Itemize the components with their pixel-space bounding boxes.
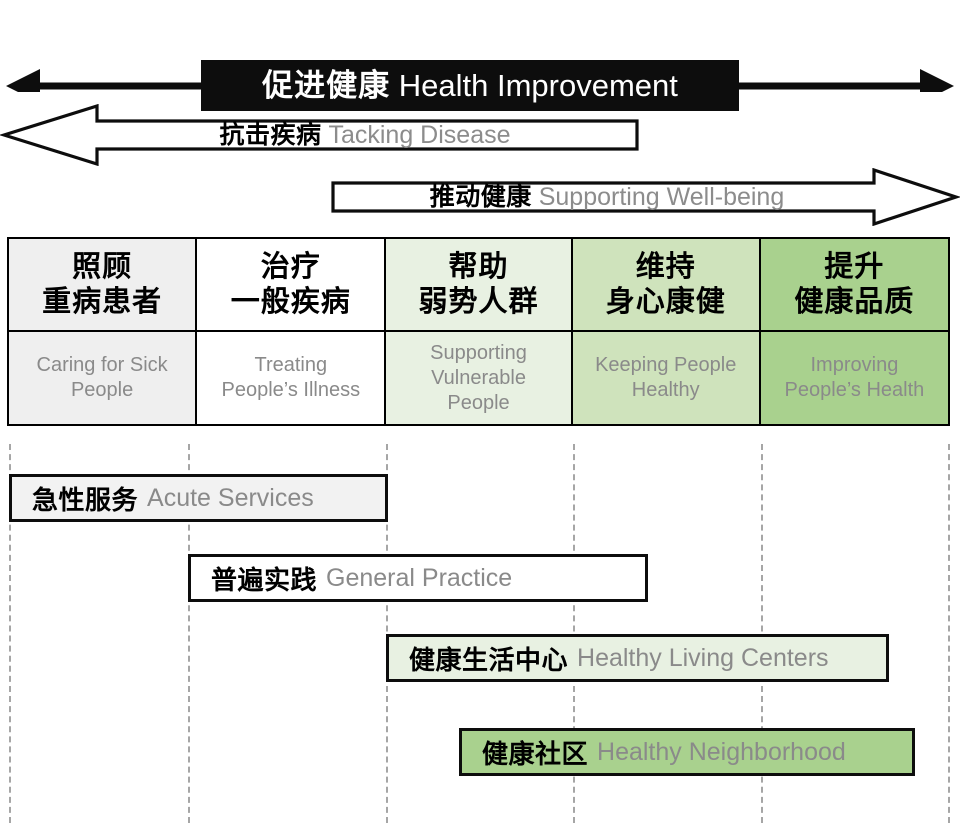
matrix-column-5-cn-cell: 提升健康品质	[761, 239, 948, 332]
matrix-en-line: Healthy	[632, 378, 700, 403]
matrix-column-3-en-cell: SupportingVulnerablePeople	[386, 332, 570, 424]
acute-services-bar: 急性服务Acute Services	[9, 474, 388, 522]
matrix-en-line: People’s Health	[785, 378, 925, 403]
matrix-en-line: Supporting	[430, 341, 527, 366]
healthy-living-centers-bar-cn: 健康生活中心	[409, 640, 568, 677]
matrix-en-line: Keeping People	[595, 353, 736, 378]
matrix-column-1: 照顾重病患者Caring for SickPeople	[9, 239, 197, 424]
general-practice-bar-cn: 普遍实践	[211, 560, 317, 597]
matrix-cn-line: 身心康健	[606, 285, 726, 319]
health-improvement-band: 促进健康 Health Improvement	[0, 30, 960, 92]
matrix-cn-line: 重病患者	[42, 285, 162, 319]
matrix-column-5-en-cell: ImprovingPeople’s Health	[761, 332, 948, 424]
health-improvement-label: 促进健康 Health Improvement	[262, 70, 678, 101]
tackling-disease-label-en: Tacking Disease	[328, 123, 510, 148]
matrix-column-2-en-cell: TreatingPeople’s Illness	[197, 332, 384, 424]
guide-line-6	[948, 444, 950, 823]
supporting-wellbeing-label-cn: 推动健康	[430, 185, 532, 210]
general-practice-bar: 普遍实践General Practice	[188, 554, 648, 602]
matrix-en-line: Caring for Sick	[37, 353, 168, 378]
acute-services-bar-cn: 急性服务	[32, 480, 138, 517]
healthy-neighborhood-bar-en: Healthy Neighborhood	[597, 738, 846, 767]
general-practice-bar-en: General Practice	[326, 564, 512, 593]
tackling-disease-label: 抗击疾病 Tacking Disease	[104, 104, 626, 166]
healthy-neighborhood-bar-cn: 健康社区	[482, 734, 588, 771]
matrix-cn-line: 健康品质	[794, 285, 914, 319]
supporting-wellbeing-label-en: Supporting Well-being	[539, 185, 785, 210]
tackling-disease-arrow: 抗击疾病 Tacking Disease	[0, 104, 640, 166]
matrix-column-4-en-cell: Keeping PeopleHealthy	[573, 332, 759, 424]
matrix-en-line: Vulnerable	[431, 366, 526, 391]
tackling-disease-label-cn: 抗击疾病	[220, 123, 322, 148]
matrix-column-3: 帮助弱势人群SupportingVulnerablePeople	[386, 239, 572, 424]
matrix-column-1-cn-cell: 照顾重病患者	[9, 239, 195, 332]
matrix-cn-line: 治疗	[261, 250, 321, 284]
matrix-en-line: People	[447, 391, 509, 416]
supporting-wellbeing-label: 推动健康 Supporting Well-being	[346, 168, 868, 226]
matrix-en-line: People’s Illness	[222, 378, 361, 403]
matrix-cn-line: 照顾	[72, 250, 132, 284]
healthy-neighborhood-bar: 健康社区Healthy Neighborhood	[459, 728, 915, 776]
matrix-cn-line: 一般疾病	[231, 285, 351, 319]
matrix-cn-line: 提升	[824, 250, 884, 284]
care-spectrum-matrix: 照顾重病患者Caring for SickPeople治疗一般疾病Treatin…	[7, 237, 950, 426]
matrix-column-2: 治疗一般疾病TreatingPeople’s Illness	[197, 239, 386, 424]
matrix-cn-line: 维持	[636, 250, 696, 284]
matrix-column-2-cn-cell: 治疗一般疾病	[197, 239, 384, 332]
matrix-en-line: People	[71, 378, 133, 403]
healthy-living-centers-bar: 健康生活中心Healthy Living Centers	[386, 634, 889, 682]
matrix-column-5: 提升健康品质ImprovingPeople’s Health	[761, 239, 948, 424]
acute-services-bar-en: Acute Services	[147, 484, 314, 513]
matrix-cn-line: 弱势人群	[419, 285, 539, 319]
matrix-column-4: 维持身心康健Keeping PeopleHealthy	[573, 239, 761, 424]
matrix-column-1-en-cell: Caring for SickPeople	[9, 332, 195, 424]
matrix-en-line: Improving	[811, 353, 899, 378]
supporting-wellbeing-arrow: 推动健康 Supporting Well-being	[330, 168, 960, 226]
health-improvement-label-cn: 促进健康	[262, 68, 390, 103]
health-improvement-label-en: Health Improvement	[399, 68, 678, 103]
matrix-cn-line: 帮助	[449, 250, 509, 284]
healthy-living-centers-bar-en: Healthy Living Centers	[577, 644, 829, 673]
diagram-canvas: 促进健康 Health Improvement 抗击疾病 Tacking Dis…	[0, 0, 960, 823]
matrix-en-line: Treating	[254, 353, 327, 378]
matrix-column-4-cn-cell: 维持身心康健	[573, 239, 759, 332]
matrix-column-3-cn-cell: 帮助弱势人群	[386, 239, 570, 332]
